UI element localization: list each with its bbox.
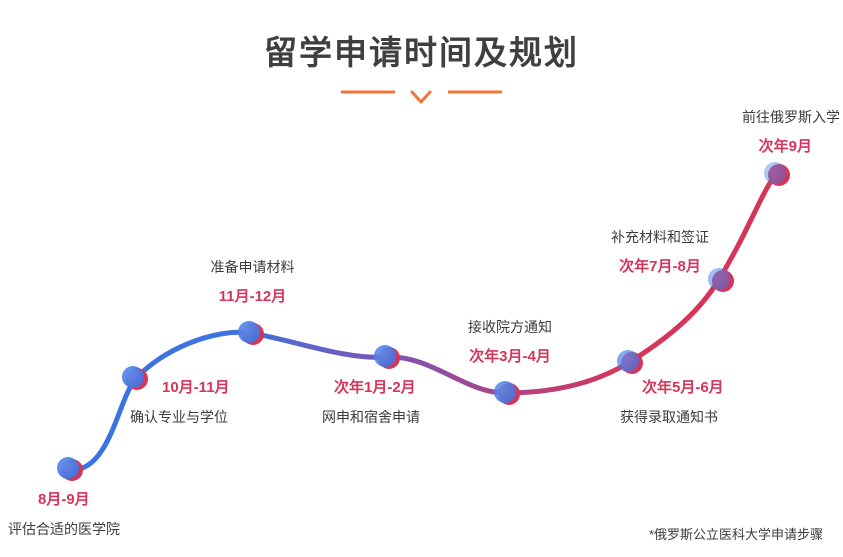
timeline-node-4 — [374, 345, 400, 369]
step-label-4: 次年1月-2月 网申和宿舍申请 — [310, 378, 485, 427]
timeline-node-3 — [238, 321, 264, 345]
step-date-4: 次年1月-2月 — [310, 378, 485, 398]
step-date-8: 次年9月 — [690, 137, 812, 157]
step-desc-7: 补充材料和签证 — [565, 228, 755, 247]
step-label-3: 准备申请材料 11月-12月 — [160, 258, 345, 307]
step-label-7: 补充材料和签证 次年7月-8月 — [565, 228, 755, 277]
timeline-infographic: 留学申请时间及规划 — [0, 0, 843, 557]
step-label-5: 接收院方通知 次年3月-4月 — [420, 318, 600, 367]
step-label-1: 8月-9月 评估合适的医学院 — [0, 490, 188, 539]
step-date-1: 8月-9月 — [38, 490, 188, 510]
step-date-3: 11月-12月 — [160, 287, 345, 307]
timeline-node-1 — [57, 457, 83, 481]
step-date-2: 10月-11月 — [130, 378, 320, 398]
step-desc-2: 确认专业与学位 — [130, 408, 320, 427]
footnote: *俄罗斯公立医科大学申请步骤 — [649, 524, 823, 543]
step-desc-3: 准备申请材料 — [160, 258, 345, 277]
step-desc-8: 前往俄罗斯入学 — [690, 108, 840, 127]
step-label-8: 前往俄罗斯入学 次年9月 — [690, 108, 843, 157]
step-desc-6: 获得录取通知书 — [620, 408, 810, 427]
step-label-6: 次年5月-6月 获得录取通知书 — [620, 378, 810, 427]
timeline-node-5 — [494, 381, 520, 405]
timeline-curve — [0, 0, 843, 557]
step-date-6: 次年5月-6月 — [620, 378, 810, 398]
step-desc-1: 评估合适的医学院 — [8, 520, 188, 539]
step-desc-5: 接收院方通知 — [420, 318, 600, 337]
step-date-7: 次年7月-8月 — [565, 257, 755, 277]
step-label-2: 10月-11月 确认专业与学位 — [130, 378, 320, 427]
step-date-5: 次年3月-4月 — [420, 347, 600, 367]
step-desc-4: 网申和宿舍申请 — [310, 408, 485, 427]
